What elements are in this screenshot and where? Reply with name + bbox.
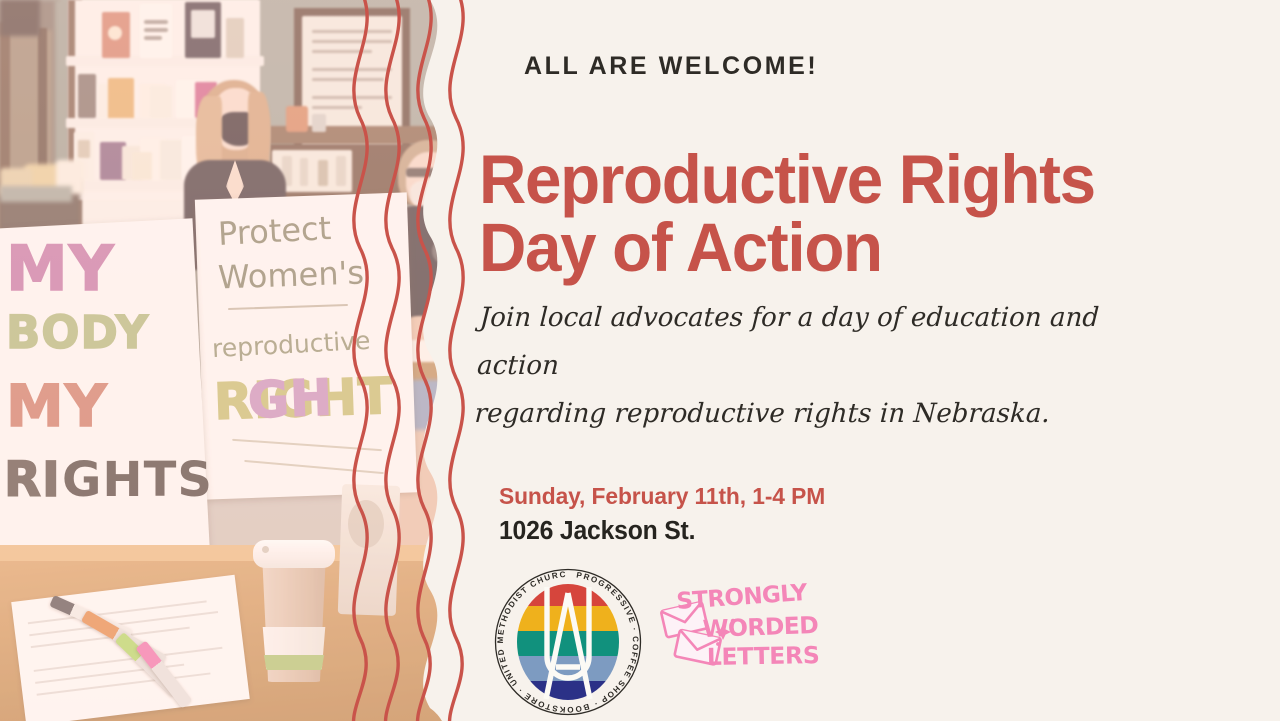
page-title: Reproductive Rights Day of Action bbox=[479, 146, 1144, 283]
headline-line-1: Reproductive Rights bbox=[479, 141, 1095, 218]
swl-line-3: LETTERS bbox=[707, 641, 820, 671]
wavy-lines-decoration bbox=[330, 0, 470, 721]
event-date: Sunday, February 11th, 1-4 PM bbox=[499, 483, 825, 510]
event-poster: Protect Women's reproductive RIGHT GH MY… bbox=[0, 0, 1280, 721]
subtitle-line-1: Join local advocates for a day of educat… bbox=[476, 302, 1100, 381]
swl-line-2: WORDED bbox=[702, 611, 818, 643]
headline-line-2: Day of Action bbox=[479, 214, 1144, 282]
subtitle-line-2: regarding reproductive rights in Nebrask… bbox=[473, 390, 1162, 438]
subtitle-text: Join local advocates for a day of educat… bbox=[473, 294, 1167, 439]
event-address: 1026 Jackson St. bbox=[499, 517, 695, 546]
swl-line-1: STRONGLY bbox=[676, 582, 809, 615]
urban-abbey-logo: PROGRESSIVE · COFFEE SHOP · BOOKSTORE · … bbox=[489, 563, 647, 721]
eyebrow-text: ALL ARE WELCOME! bbox=[524, 52, 818, 81]
event-photo: Protect Women's reproductive RIGHT GH MY… bbox=[0, 0, 470, 721]
strongly-worded-letters-logo: STRONGLY WORDED LETTERS bbox=[655, 582, 830, 679]
